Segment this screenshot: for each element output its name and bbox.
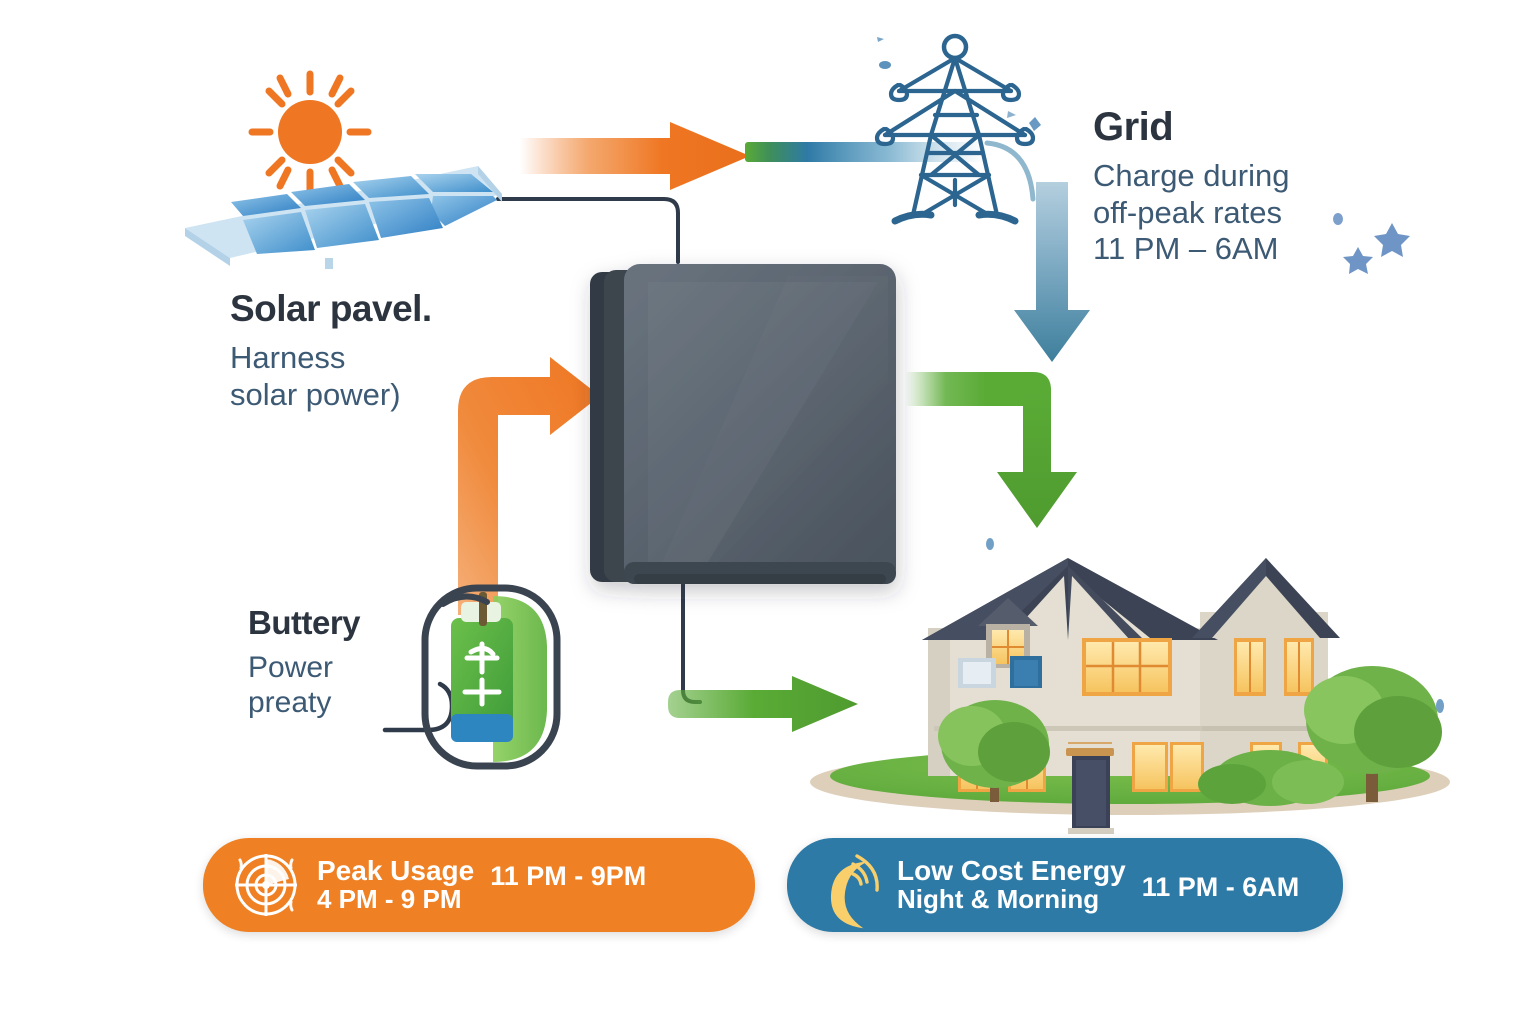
legend-peak-text: Peak Usage 4 PM - 9 PM — [317, 856, 474, 915]
solar-title: Solar pavel. — [230, 288, 432, 330]
battery-text-block: Buttery Power preaty — [248, 604, 360, 721]
legend-low-cost-energy[interactable]: Low Cost Energy Night & Morning 11 PM - … — [787, 838, 1343, 932]
legend-peak-usage[interactable]: Peak Usage 4 PM - 9 PM 11 PM - 9PM — [203, 838, 755, 932]
legend-low-sublabel: Night & Morning — [897, 885, 1126, 914]
grid-title: Grid — [1093, 105, 1289, 150]
solar-text-block: Solar pavel. Harness solar power) — [230, 288, 432, 413]
grid-down-arrow — [1010, 182, 1094, 362]
solar-to-grid-arrow — [520, 122, 750, 190]
legend-peak-label: Peak Usage — [317, 856, 474, 886]
diagram-canvas: Solar pavel. Harness solar power) — [0, 0, 1536, 1024]
legend-low-time: 11 PM - 6AM — [1142, 872, 1300, 903]
star-icon — [1330, 205, 1440, 285]
grid-text-block: Grid Charge during off-peak rates 11 PM … — [1093, 105, 1289, 268]
battery-to-unit-arrow — [440, 355, 600, 615]
legend-low-text: Low Cost Energy Night & Morning — [897, 856, 1126, 915]
legend-peak-time: 11 PM - 9PM — [490, 861, 646, 892]
house-icon — [800, 520, 1460, 815]
clock-gauge-icon — [229, 848, 303, 922]
battery-title: Buttery — [248, 604, 360, 642]
unit-to-house-arrow — [905, 368, 1105, 530]
solar-panel-icon — [175, 140, 505, 270]
battery-cell-icon — [415, 582, 567, 772]
grid-subtitle: Charge during off-peak rates 11 PM – 6AM — [1093, 158, 1289, 268]
moon-icon — [813, 848, 883, 922]
legend-low-label: Low Cost Energy — [897, 856, 1126, 886]
legend-peak-sublabel: 4 PM - 9 PM — [317, 885, 474, 914]
solar-subtitle: Harness solar power) — [230, 340, 432, 413]
battery-subtitle: Power preaty — [248, 650, 360, 721]
